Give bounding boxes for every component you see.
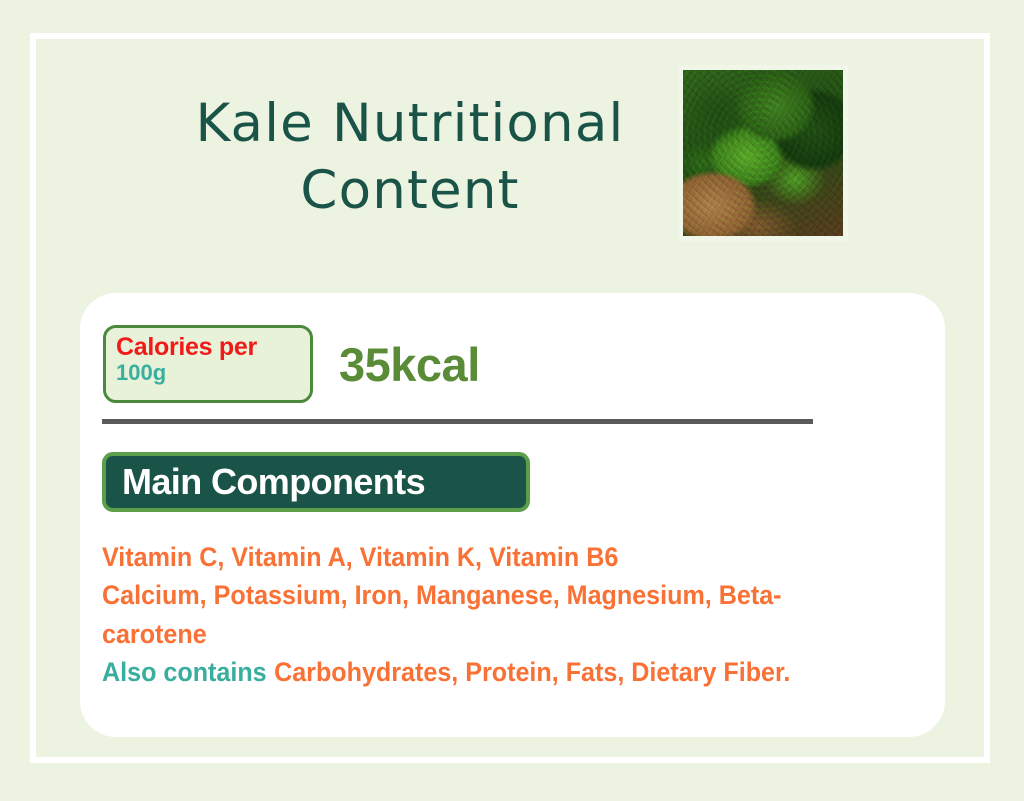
page-title: Kale Nutritional Content: [150, 90, 670, 225]
calories-value: 35kcal: [339, 337, 480, 392]
main-components-heading: Main Components: [102, 452, 530, 512]
nutrients-vitamins: Vitamin C, Vitamin A, Vitamin K, Vitamin…: [102, 538, 865, 576]
content-card: Calories per 100g 35kcal Main Components…: [80, 293, 945, 737]
also-contains-items: Carbohydrates, Protein, Fats, Dietary Fi…: [274, 657, 790, 687]
calories-unit: 100g: [116, 361, 300, 384]
calories-label: Calories per: [116, 333, 300, 361]
kale-photo: [678, 65, 848, 241]
kale-photo-image: [683, 70, 843, 236]
calories-badge: Calories per 100g: [103, 325, 313, 403]
calories-row: Calories per 100g 35kcal: [103, 325, 480, 403]
header: Kale Nutritional Content: [30, 60, 990, 290]
main-components-heading-label: Main Components: [122, 461, 425, 503]
nutrients-minerals: Calcium, Potassium, Iron, Manganese, Mag…: [102, 576, 865, 653]
also-contains-label: Also contains: [102, 657, 267, 687]
nutrients-list: Vitamin C, Vitamin A, Vitamin K, Vitamin…: [102, 538, 922, 691]
nutrients-also-contains: Also containsCarbohydrates, Protein, Fat…: [102, 653, 865, 691]
section-divider: [102, 419, 813, 424]
